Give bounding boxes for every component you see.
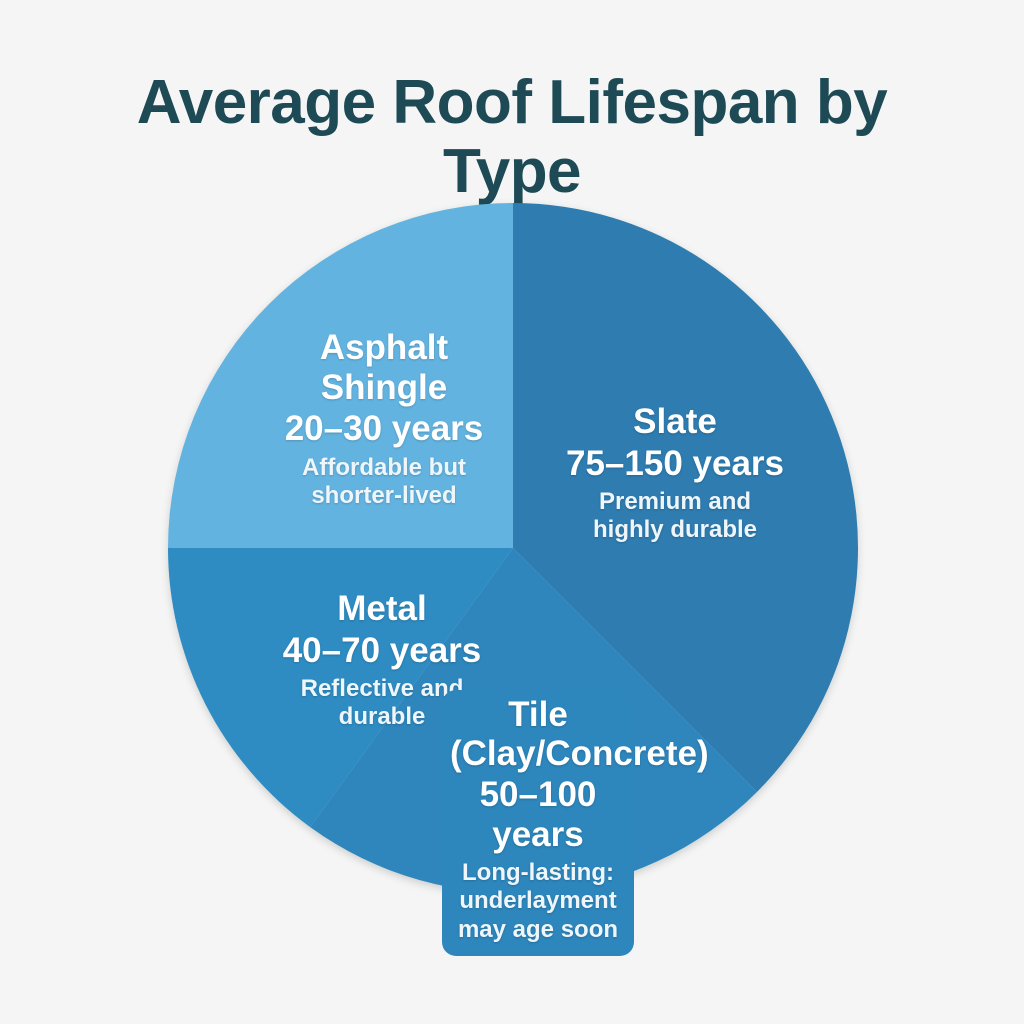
slice-label-asphalt-shingle: Asphalt Shingle 20–30 years Affordable b… bbox=[252, 328, 516, 510]
slice-label-slate-value: 75–150 years bbox=[540, 444, 810, 484]
slice-label-tile-note-line2: underlayment bbox=[450, 887, 626, 915]
slice-label-tile-note-line3: may age soon bbox=[450, 916, 626, 944]
slice-label-slate-name: Slate bbox=[540, 402, 810, 442]
slice-label-tile-note-line1: Long-lasting: bbox=[450, 859, 626, 887]
slice-label-asphalt-value: 20–30 years bbox=[252, 409, 516, 449]
slice-label-tile-value: 50–100 years bbox=[450, 775, 626, 854]
slice-label-tile-name-line1: Tile bbox=[450, 696, 626, 735]
slice-label-asphalt-name-line1: Asphalt bbox=[252, 328, 516, 368]
slice-label-metal-value: 40–70 years bbox=[252, 631, 512, 671]
slice-label-asphalt-note-line2: shorter-lived bbox=[252, 482, 516, 510]
slice-label-tile: Tile (Clay/Concrete) 50–100 years Long-l… bbox=[442, 690, 634, 956]
slice-label-tile-name-line2: (Clay/Concrete) bbox=[450, 735, 626, 774]
slice-label-slate: Slate 75–150 years Premium and highly du… bbox=[540, 402, 810, 545]
slice-label-metal-name: Metal bbox=[252, 589, 512, 629]
slice-label-asphalt-note-line1: Affordable but bbox=[252, 454, 516, 482]
slice-label-slate-note-line1: Premium and bbox=[540, 488, 810, 516]
slice-label-asphalt-name-line2: Shingle bbox=[252, 368, 516, 408]
slice-label-slate-note-line2: highly durable bbox=[540, 516, 810, 544]
infographic-canvas: Average Roof Lifespan by Type Asphalt Sh… bbox=[0, 0, 1024, 1024]
